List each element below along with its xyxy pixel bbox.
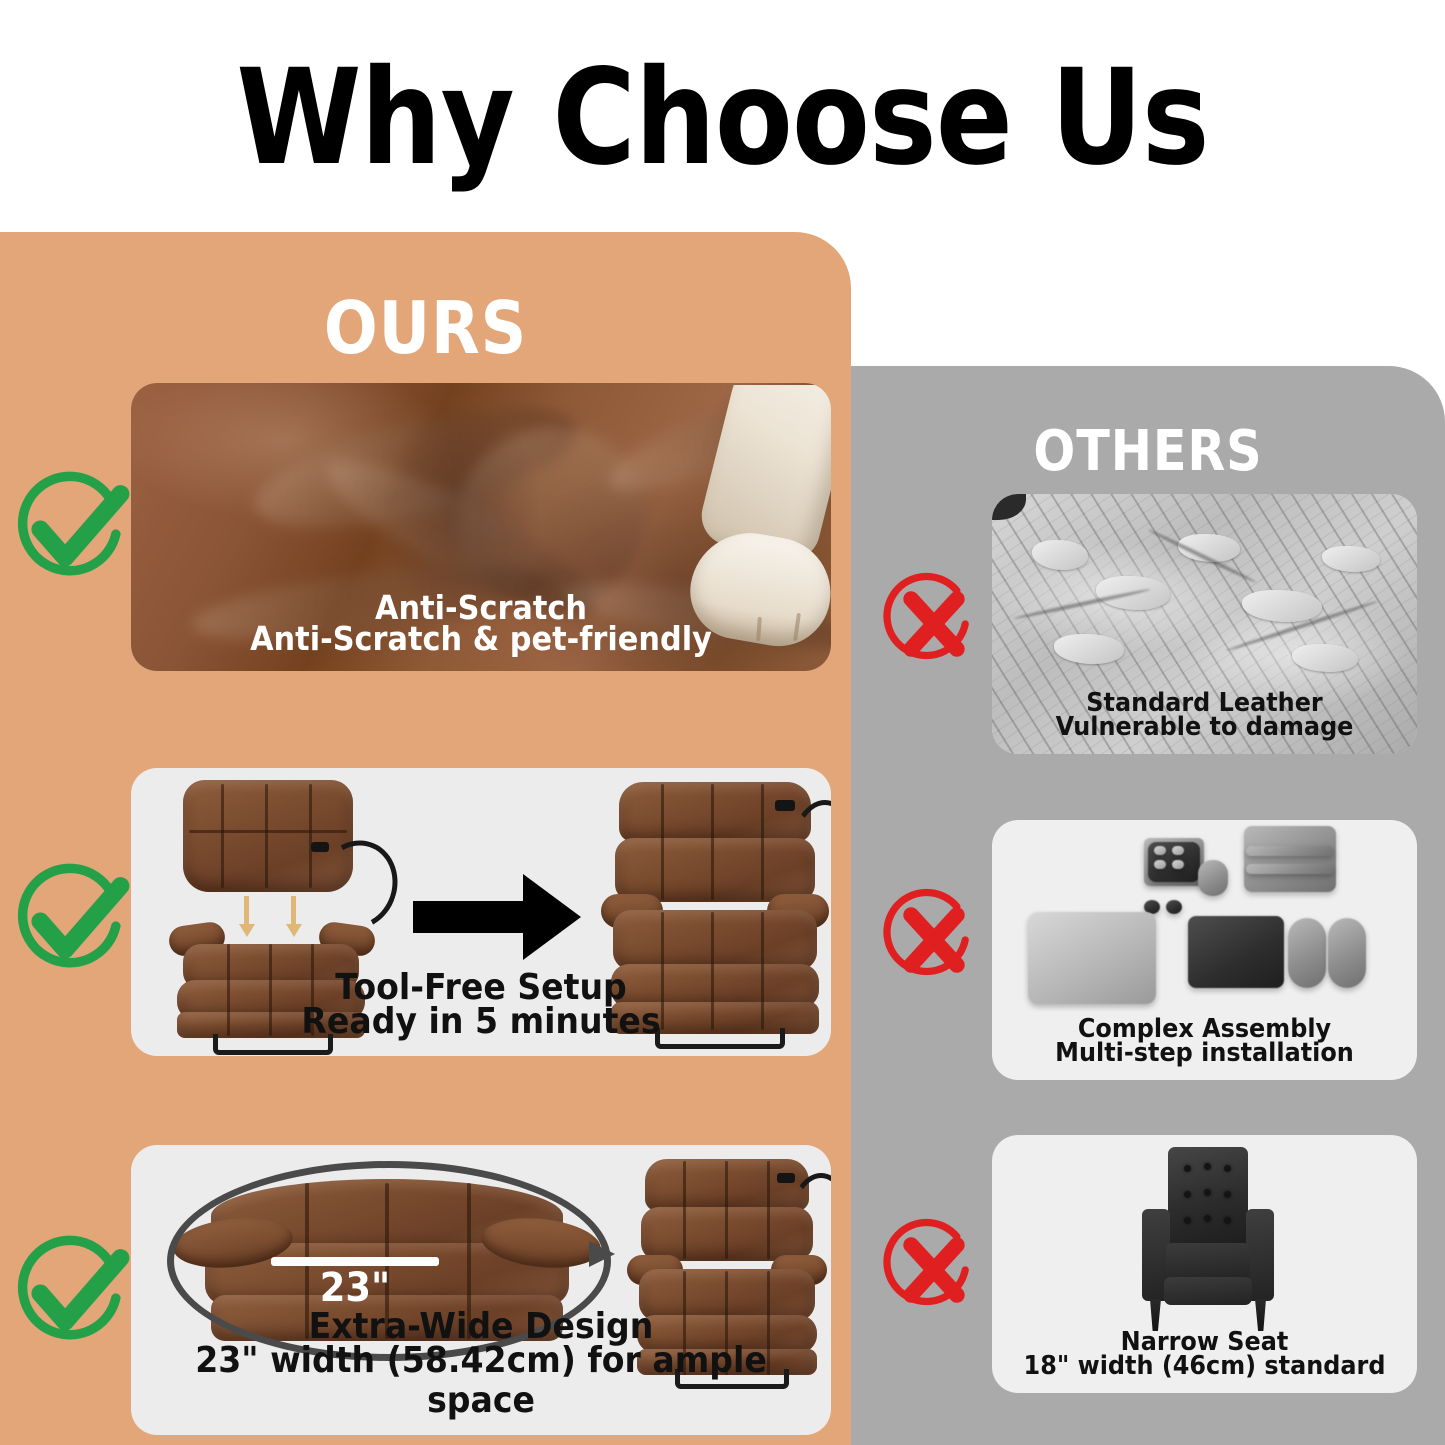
others-card-standard-leather: Standard Leather Vulnerable to damage xyxy=(992,494,1417,754)
check-icon xyxy=(12,860,130,978)
cross-icon xyxy=(882,572,986,676)
others-heading: OTHERS xyxy=(887,424,1410,480)
page-title: Why Choose Us xyxy=(101,52,1344,184)
dimension-label: 23" xyxy=(278,1265,433,1311)
suede-fabric-image xyxy=(131,383,831,671)
transform-arrow-icon xyxy=(413,874,583,960)
cross-icon xyxy=(882,1218,986,1322)
check-icon xyxy=(12,1232,130,1350)
ours-card-anti-scratch: Anti-Scratch Anti-Scratch & pet-friendly xyxy=(131,383,831,671)
cross-icon xyxy=(882,888,986,992)
ours-heading: OURS xyxy=(51,292,800,364)
check-icon xyxy=(12,468,130,586)
others-card-complex-assembly: Complex Assembly Multi-step installation xyxy=(992,820,1417,1080)
recliner-side-view xyxy=(627,1159,827,1387)
cat-paw xyxy=(665,385,831,665)
cracked-leather-image xyxy=(992,494,1417,754)
ours-card-extra-wide: 23" Extra-Wide Design 23" width (58.42cm… xyxy=(131,1145,831,1435)
assembled-recliner xyxy=(599,782,831,1044)
ours-card-tool-free-setup: Tool-Free Setup Ready in 5 minutes xyxy=(131,768,831,1056)
comparison-infographic: Why Choose Us OURS OTHERS xyxy=(0,0,1445,1445)
ellipse-pointer xyxy=(589,1241,615,1267)
recliner-base xyxy=(169,918,369,1043)
narrow-armchair-image xyxy=(1138,1147,1278,1337)
caption-line-2: 18" width (46cm) standard xyxy=(1009,1351,1400,1381)
cable-plug xyxy=(311,842,329,852)
scattered-parts-image xyxy=(992,820,1417,1080)
others-card-narrow-seat: Narrow Seat 18" width (46cm) standard xyxy=(992,1135,1417,1393)
